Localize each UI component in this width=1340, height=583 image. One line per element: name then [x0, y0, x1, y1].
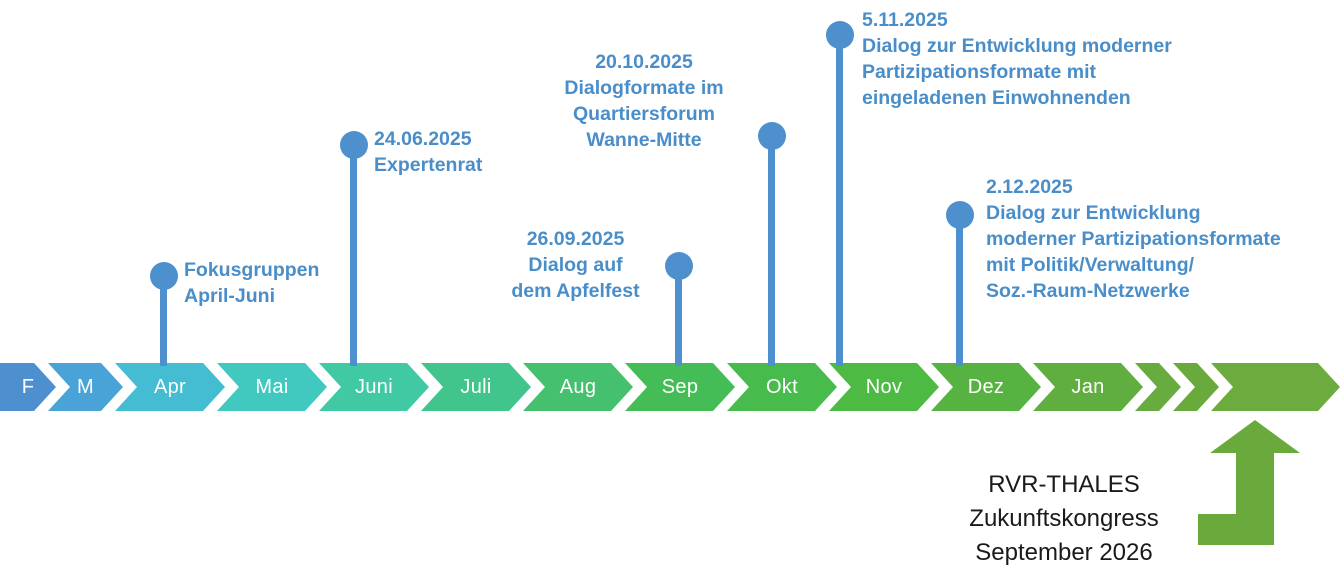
timeline-segment-aug: Aug — [523, 363, 633, 411]
milestone-label: 2.12.2025Dialog zur Entwicklung moderner… — [986, 174, 1304, 304]
milestone-date: 26.09.2025 — [498, 226, 653, 252]
milestone-stem — [350, 145, 357, 366]
milestone-description: Dialog zur Entwicklung moderner Partizip… — [986, 200, 1304, 304]
milestone-stem — [956, 215, 963, 366]
milestone-label: 26.09.2025Dialog auf dem Apfelfest — [498, 226, 653, 304]
milestone-label: 20.10.2025Dialogformate im Quartiersforu… — [540, 49, 748, 153]
caption-line-2: Zukunftskongress — [935, 502, 1193, 536]
milestone-dot-icon[interactable] — [946, 201, 974, 229]
timeline-segment-extra-14 — [1211, 363, 1340, 411]
timeline-segment-label: Apr — [154, 376, 186, 399]
bent-arrow-icon — [1198, 420, 1308, 545]
milestone-description: Dialog zur Entwicklung moderner Partizip… — [862, 33, 1202, 111]
milestone-stem — [768, 136, 775, 366]
milestone-date: 2.12.2025 — [986, 174, 1304, 200]
timeline-segment-mai: Mai — [217, 363, 327, 411]
milestone-dot-icon[interactable] — [826, 21, 854, 49]
timeline-segment-label: Dez — [968, 376, 1004, 399]
timeline-segment-label: Sep — [662, 376, 699, 399]
milestone-date: 20.10.2025 — [540, 49, 748, 75]
caption-line-3: September 2026 — [935, 536, 1193, 570]
milestone-dot-icon[interactable] — [150, 262, 178, 290]
timeline-segment-nov: Nov — [829, 363, 939, 411]
future-arrow — [1198, 420, 1308, 545]
timeline-segment-label: Juli — [460, 376, 491, 399]
milestone-label: 5.11.2025Dialog zur Entwicklung moderner… — [862, 7, 1202, 111]
timeline-segment-label: Jan — [1071, 376, 1104, 399]
timeline-segment-apr: Apr — [115, 363, 225, 411]
timeline-segment-label: Aug — [560, 376, 597, 399]
milestone-stem — [836, 35, 843, 366]
milestone-label: 24.06.2025Expertenrat — [374, 126, 544, 178]
future-event-caption: RVR-THALES Zukunftskongress September 20… — [935, 468, 1193, 570]
milestone-label: Fokusgruppen April-Juni — [184, 257, 344, 309]
milestone-stem — [675, 266, 682, 366]
timeline-segment-juli: Juli — [421, 363, 531, 411]
milestone-description: Dialogformate im Quartiersforum Wanne-Mi… — [540, 75, 748, 153]
timeline-segment-jan: Jan — [1033, 363, 1143, 411]
timeline-segment-label: Nov — [866, 376, 902, 399]
timeline-segment-label: F — [22, 376, 35, 399]
timeline-segment-sep: Sep — [625, 363, 735, 411]
milestone-description: Fokusgruppen April-Juni — [184, 257, 344, 309]
milestone-dot-icon[interactable] — [758, 122, 786, 150]
timeline-segment-label: M — [77, 376, 94, 399]
caption-line-1: RVR-THALES — [935, 468, 1193, 502]
timeline-segment-label: Okt — [766, 376, 798, 399]
milestone-dot-icon[interactable] — [665, 252, 693, 280]
milestone-description: Dialog auf dem Apfelfest — [498, 252, 653, 304]
timeline-segment-label: Juni — [355, 376, 393, 399]
timeline-segment-m: M — [48, 363, 123, 411]
milestone-description: Expertenrat — [374, 152, 544, 178]
milestone-dot-icon[interactable] — [340, 131, 368, 159]
timeline-infographic: FMAprMaiJuniJuliAugSepOktNovDezJan Fokus… — [0, 0, 1340, 583]
timeline-segment-label: Mai — [255, 376, 288, 399]
timeline-segment-juni: Juni — [319, 363, 429, 411]
milestone-date: 24.06.2025 — [374, 126, 544, 152]
timeline-segment-f: F — [0, 363, 56, 411]
timeline-segment-okt: Okt — [727, 363, 837, 411]
timeline-band: FMAprMaiJuniJuliAugSepOktNovDezJan — [0, 363, 1340, 411]
milestone-date: 5.11.2025 — [862, 7, 1202, 33]
timeline-segment-dez: Dez — [931, 363, 1041, 411]
